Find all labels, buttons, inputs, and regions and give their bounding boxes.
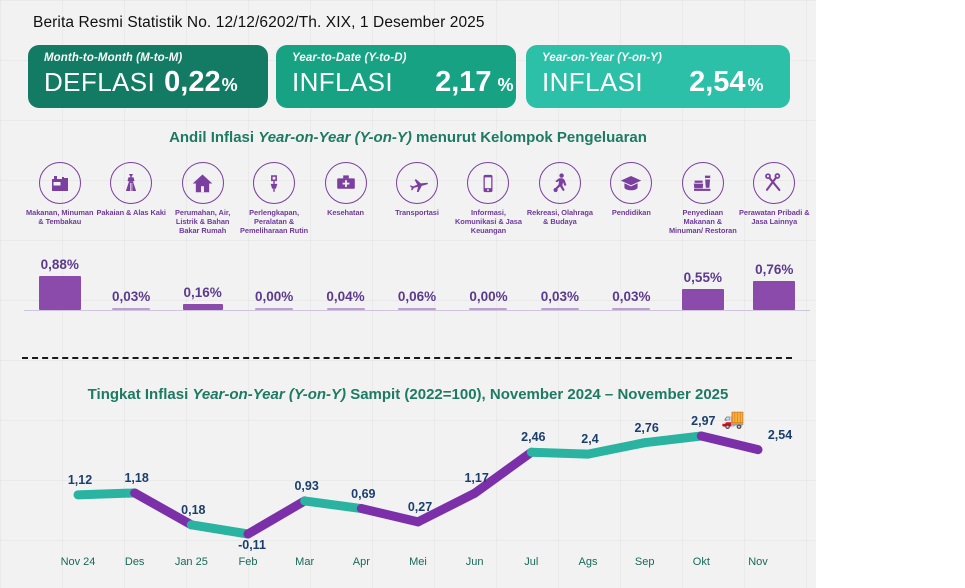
category-label: Makanan, Minuman & Tembakau [24,208,96,226]
food-drink-icon [682,162,724,204]
line-point-label: 0,27 [408,500,432,514]
line-point-label: 2,46 [521,430,545,444]
expenditure-category-4: Perlengkapan, Peralatan & Pemeliharaan R… [238,162,310,236]
line-point-label: 2,4 [581,432,598,446]
contribution-bar [255,308,293,310]
inflation-line-chart: 1,12Nov 241,18Des0,18Jan 25-0,11Feb0,93M… [0,404,816,588]
line-point-label: 0,69 [351,487,375,501]
line-point-label: 1,18 [124,471,148,485]
contribution-chart: Makanan, Minuman & Tembakau0,88%Pakaian … [24,162,810,322]
soccer-player-icon [539,162,581,204]
bar-baseline [24,310,810,311]
line-point-label: 1,12 [68,473,92,487]
contribution-value-label: 0,03% [588,289,674,304]
right-margin [816,0,965,588]
contribution-bar [39,276,81,310]
expenditure-category-11: Perawatan Pribadi & Jasa Lainnya [738,162,810,226]
kpi-value-year-on-year: 2,54 [689,66,745,99]
line-point-label: 1,17 [464,471,488,485]
medical-kit-icon [325,162,367,204]
category-label: Perumahan, Air, Listrik & Bahan Bakar Ru… [167,208,239,236]
contribution-bar [398,308,436,310]
graduation-cap-icon [610,162,652,204]
expenditure-category-1: Makanan, Minuman & Tembakau [24,162,96,226]
contribution-bar [612,308,650,310]
line-segment [248,501,305,534]
category-label: Rekreasi, Olahraga & Budaya [524,208,596,226]
contribution-bar [753,281,795,310]
category-label: Pakaian & Alas Kaki [96,208,165,217]
x-axis-label: Nov [725,556,791,568]
expenditure-category-5: Kesehatan [310,162,382,217]
line-segment [701,436,758,450]
kpi-value-month-to-month: 0,22 [164,66,220,99]
dress-icon [110,162,152,204]
category-label: Perlengkapan, Peralatan & Pemeliharaan R… [238,208,310,236]
contribution-bar [112,308,150,310]
expenditure-category-9: Pendidikan [595,162,667,217]
line-section-heading: Tingkat Inflasi Year-on-Year (Y-on-Y) Sa… [0,386,816,403]
category-label: Perawatan Pribadi & Jasa Lainnya [738,208,810,226]
category-label: Pendidikan [612,208,651,217]
airplane-icon [396,162,438,204]
line-point-label: 2,76 [634,421,658,435]
kpi-card-month-to-month: Month-to-Month (M-to-M) DEFLASI 0,22 % [28,45,268,108]
category-label: Kesehatan [327,208,364,217]
contribution-bar [327,308,365,310]
contribution-bar [541,308,579,310]
kpi-label-month-to-month: Month-to-Month (M-to-M) [44,52,254,64]
line-point-label: -0,11 [238,538,266,552]
line-segment [191,525,248,534]
delivery-truck-emoji: 🚚 [721,410,745,429]
scissors-comb-icon [753,162,795,204]
expenditure-category-2: Pakaian & Alas Kaki [95,162,167,217]
contribution-heading-part-b: menurut Kelompok Pengeluaran [412,129,647,146]
contribution-bar [183,304,223,310]
infographic-page: Berita Resmi Statistik No. 12/12/6202/Th… [0,0,965,588]
line-heading-part-a: Tingkat Inflasi [88,386,193,403]
expenditure-category-10: Penyediaan Makanan & Minuman/ Restoran [667,162,739,236]
line-point-label: 2,54 [768,428,792,442]
kpi-label-year-to-date: Year-to-Date (Y-to-D) [292,52,502,64]
expenditure-category-3: Perumahan, Air, Listrik & Bahan Bakar Ru… [167,162,239,236]
line-point-label: 0,93 [294,479,318,493]
contribution-value-label: 0,76% [731,262,817,277]
kpi-word-year-to-date: INFLASI [292,67,393,98]
contribution-value-label: 0,88% [17,257,103,272]
kpi-label-year-on-year: Year-on-Year (Y-on-Y) [542,52,776,64]
kpi-unit-month-to-month: % [222,75,238,96]
expenditure-category-8: Rekreasi, Olahraga & Budaya [524,162,596,226]
kpi-card-year-to-date: Year-to-Date (Y-to-D) INFLASI 2,17 % [276,45,516,108]
house-icon [182,162,224,204]
kpi-unit-year-on-year: % [748,75,764,96]
expenditure-category-7: Informasi, Komunikasi & Jasa Keuangan [452,162,524,236]
kpi-word-year-on-year: INFLASI [542,67,643,98]
line-heading-part-b: Sampit (2022=100), November 2024 – Novem… [346,386,728,403]
line-heading-italic: Year-on-Year (Y-on-Y) [192,386,346,403]
contribution-bar [469,308,507,310]
kpi-value-year-to-date: 2,17 [435,66,491,99]
category-label: Transportasi [395,208,439,217]
expenditure-category-6: Transportasi [381,162,453,217]
category-label: Penyediaan Makanan & Minuman/ Restoran [667,208,739,236]
page-title: Berita Resmi Statistik No. 12/12/6202/Th… [33,14,485,32]
kpi-main-year-to-date: INFLASI 2,17 % [292,66,502,99]
kpi-unit-year-to-date: % [498,75,514,96]
contribution-section-heading: Andil Inflasi Year-on-Year (Y-on-Y) menu… [0,129,816,146]
section-divider [22,357,792,359]
smartphone-icon [467,162,509,204]
appliance-icon [253,162,295,204]
line-segment [645,436,702,443]
contribution-heading-part-a: Andil Inflasi [169,129,258,146]
contribution-bar [682,289,724,310]
line-segment [305,501,362,509]
line-point-label: 2,97 [691,414,715,428]
kpi-main-year-on-year: INFLASI 2,54 % [542,66,776,99]
kpi-word-month-to-month: DEFLASI [44,67,155,98]
line-segment [531,452,588,454]
kpi-main-month-to-month: DEFLASI 0,22 % [44,66,254,99]
contribution-heading-italic: Year-on-Year (Y-on-Y) [258,129,412,146]
kpi-card-year-on-year: Year-on-Year (Y-on-Y) INFLASI 2,54 % [526,45,790,108]
shopping-bag-icon [39,162,81,204]
line-point-label: 0,18 [181,503,205,517]
category-label: Informasi, Komunikasi & Jasa Keuangan [452,208,524,236]
line-segment [78,493,135,495]
